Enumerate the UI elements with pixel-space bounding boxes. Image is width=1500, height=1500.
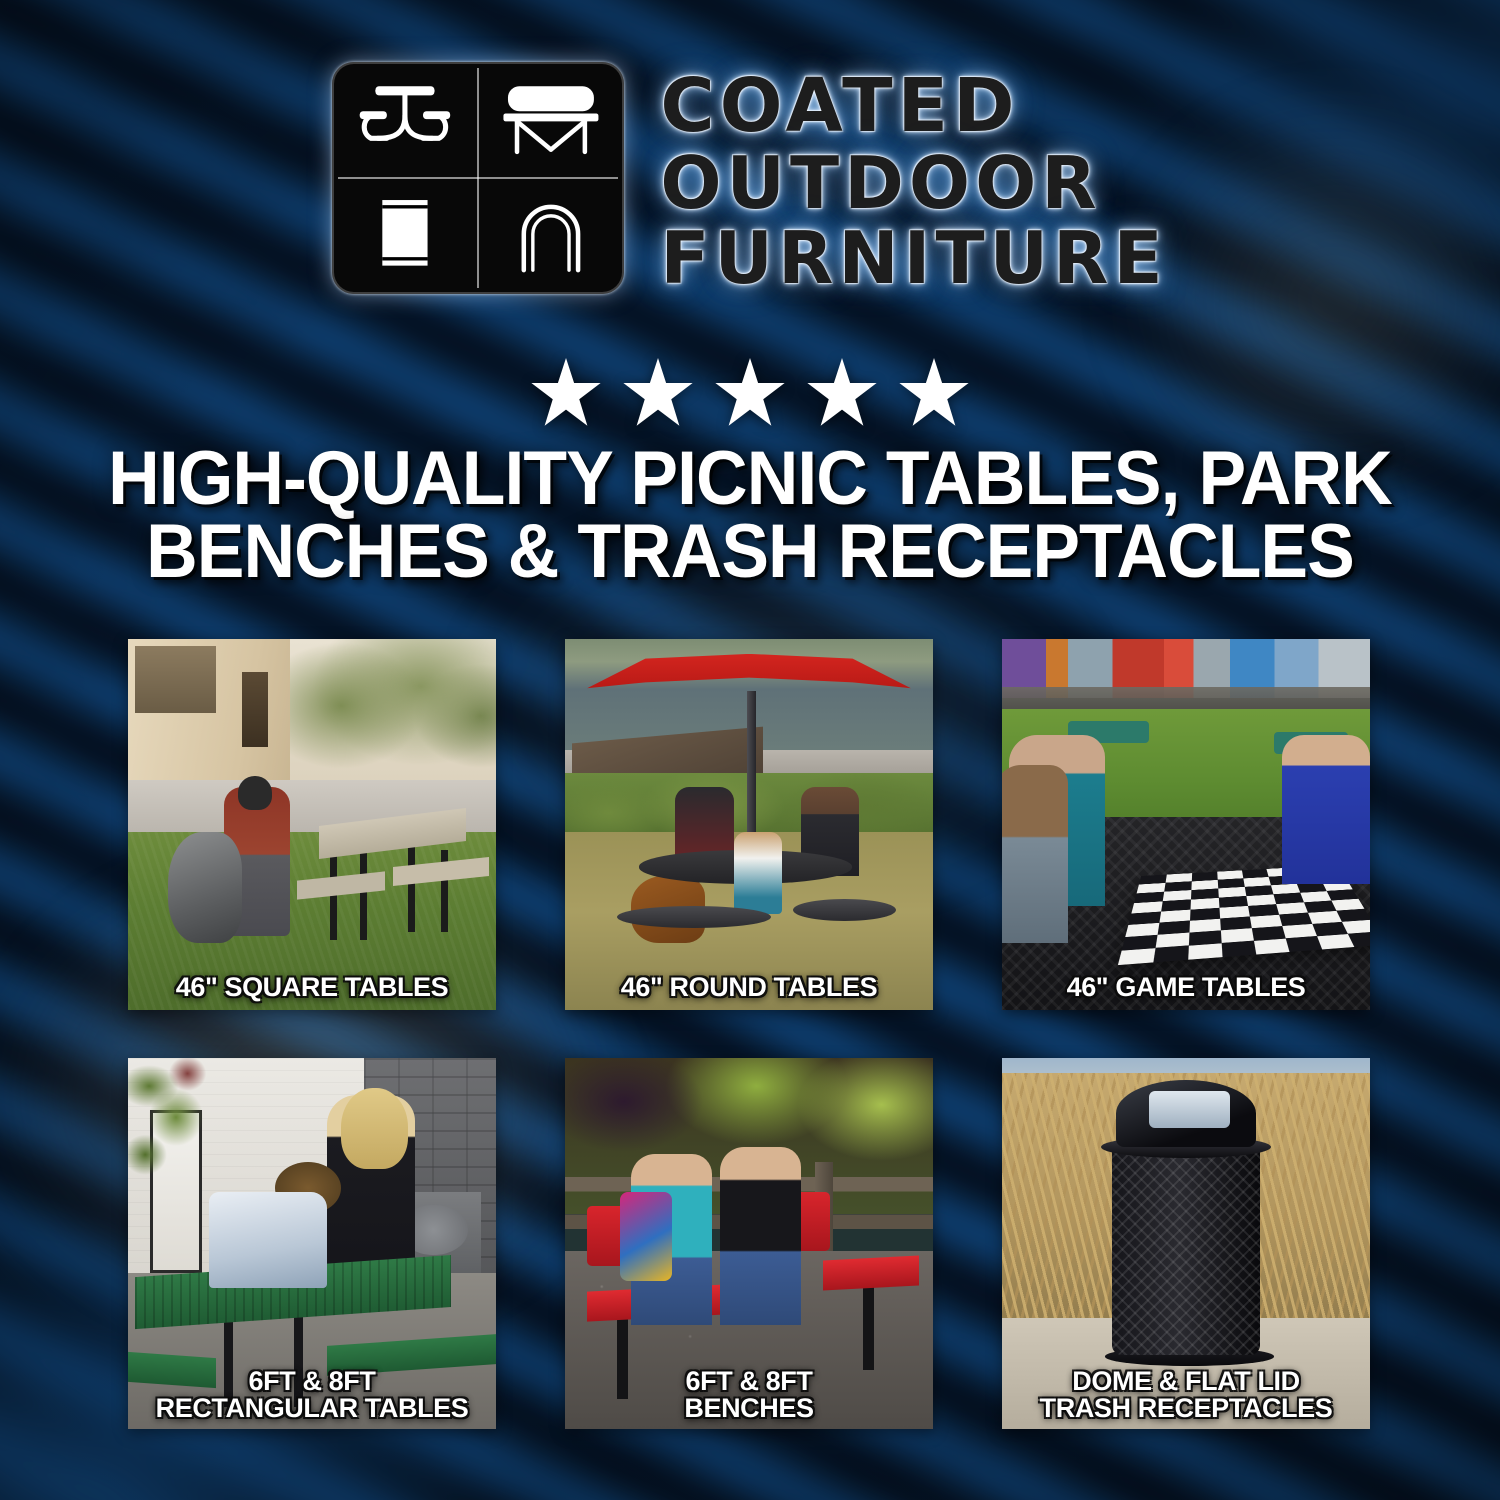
trash-receptacle-icon [332,178,478,294]
tile-caption: 6FT & 8FT RECTANGULAR TABLES [134,1368,490,1423]
brand-word-outdoor: OUTDOOR [660,150,1101,218]
tile-caption: 46" SQUARE TABLES [134,974,490,1002]
page-root: COATED OUTDOOR FURNITURE HIGH-QUALITY PI… [0,0,1500,1500]
star-icon-5 [897,358,971,428]
logo-divider-horizontal [338,177,618,179]
tile-rectangular-tables[interactable]: 6FT & 8FT RECTANGULAR TABLES [128,1058,496,1429]
brand-wordmark: COATED OUTDOOR FURNITURE [660,62,1167,293]
tile-trash-receptacles[interactable]: DOME & FLAT LID TRASH RECEPTACLES [1002,1058,1370,1429]
photo-game-tables [1002,639,1370,1010]
park-bench-icon [478,62,624,178]
headline: HIGH-QUALITY PICNIC TABLES, PARK BENCHES… [101,443,1398,589]
tile-benches[interactable]: 6FT & 8FT BENCHES [565,1058,933,1429]
tile-caption: 46" GAME TABLES [1008,974,1364,1002]
picnic-table-icon [332,62,478,178]
tile-square-tables[interactable]: 46" SQUARE TABLES [128,639,496,1010]
rating-stars [0,358,1500,428]
photo-square-tables [128,639,496,1010]
bike-rack-arch-icon [478,178,624,294]
tile-round-tables[interactable]: 46" ROUND TABLES [565,639,933,1010]
star-icon-3 [713,358,787,428]
logo-mark-tiles [332,62,624,294]
product-tile-grid: 46" SQUARE TABLES 46" ROUND TABLES [128,639,1372,1429]
tile-row-2: 6FT & 8FT RECTANGULAR TABLES 6FT & 8FT B… [128,1058,1372,1429]
tile-caption: DOME & FLAT LID TRASH RECEPTACLES [1008,1368,1364,1423]
tile-caption: 46" ROUND TABLES [571,974,927,1002]
photo-round-tables [565,639,933,1010]
brand-word-coated: COATED [660,72,1019,142]
star-icon-4 [805,358,879,428]
brand-logo[interactable]: COATED OUTDOOR FURNITURE [0,62,1500,294]
star-icon-2 [621,358,695,428]
tile-game-tables[interactable]: 46" GAME TABLES [1002,639,1370,1010]
brand-word-furniture: FURNITURE [660,225,1167,293]
tile-row-1: 46" SQUARE TABLES 46" ROUND TABLES [128,639,1372,1010]
tile-caption: 6FT & 8FT BENCHES [571,1368,927,1423]
star-icon-1 [529,358,603,428]
